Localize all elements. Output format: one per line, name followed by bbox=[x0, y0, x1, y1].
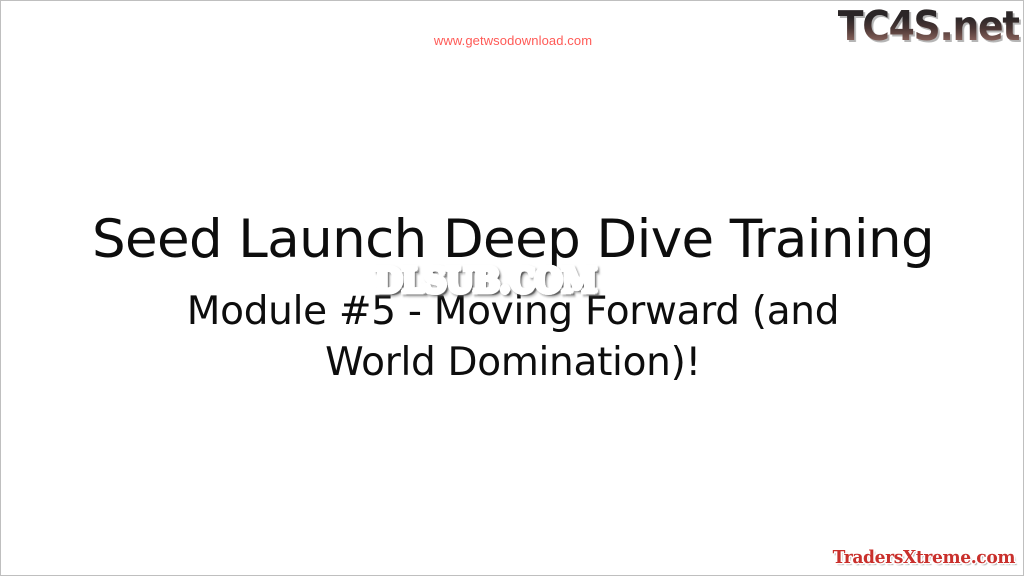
presentation-slide: www.getwsodownload.com TC4S.net Seed Lau… bbox=[0, 0, 1024, 576]
slide-subtitle: Module #5 - Moving Forward (and World Do… bbox=[1, 286, 1024, 388]
slide-subtitle-line-2: World Domination)! bbox=[1, 337, 1024, 388]
dlsub-com-overlay-watermark: DLSUB.COM bbox=[375, 263, 596, 299]
tc4s-net-logo-watermark: TC4S.net bbox=[838, 3, 1019, 49]
tradersxtreme-com-watermark: TradersXtreme.com bbox=[833, 547, 1015, 569]
